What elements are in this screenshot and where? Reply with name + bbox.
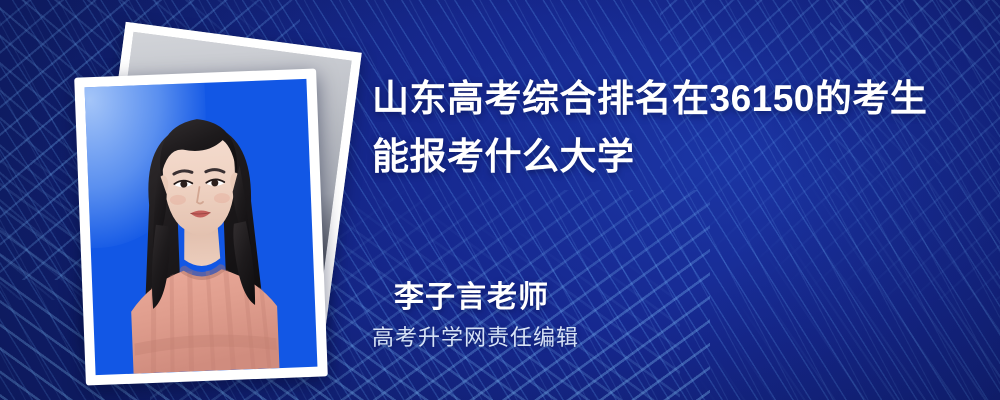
page-title-line-1: 山东高考综合排名在36150的考生 [372,70,952,128]
portrait-illustration [85,79,318,375]
banner-text-column: 山东高考综合排名在36150的考生 能报考什么大学 李子言老师 高考升学网责任编… [370,0,970,400]
page-title-line-2: 能报考什么大学 [372,128,952,186]
page-title: 山东高考综合排名在36150的考生 能报考什么大学 [372,70,952,186]
portrait-photo [85,79,318,375]
author-role: 高考升学网责任编辑 [372,320,579,352]
photo-card-stack [60,26,360,376]
author-name: 李子言老师 [394,272,549,316]
article-hero-banner: 山东高考综合排名在36150的考生 能报考什么大学 李子言老师 高考升学网责任编… [0,0,1000,400]
front-photo-card [74,68,328,385]
